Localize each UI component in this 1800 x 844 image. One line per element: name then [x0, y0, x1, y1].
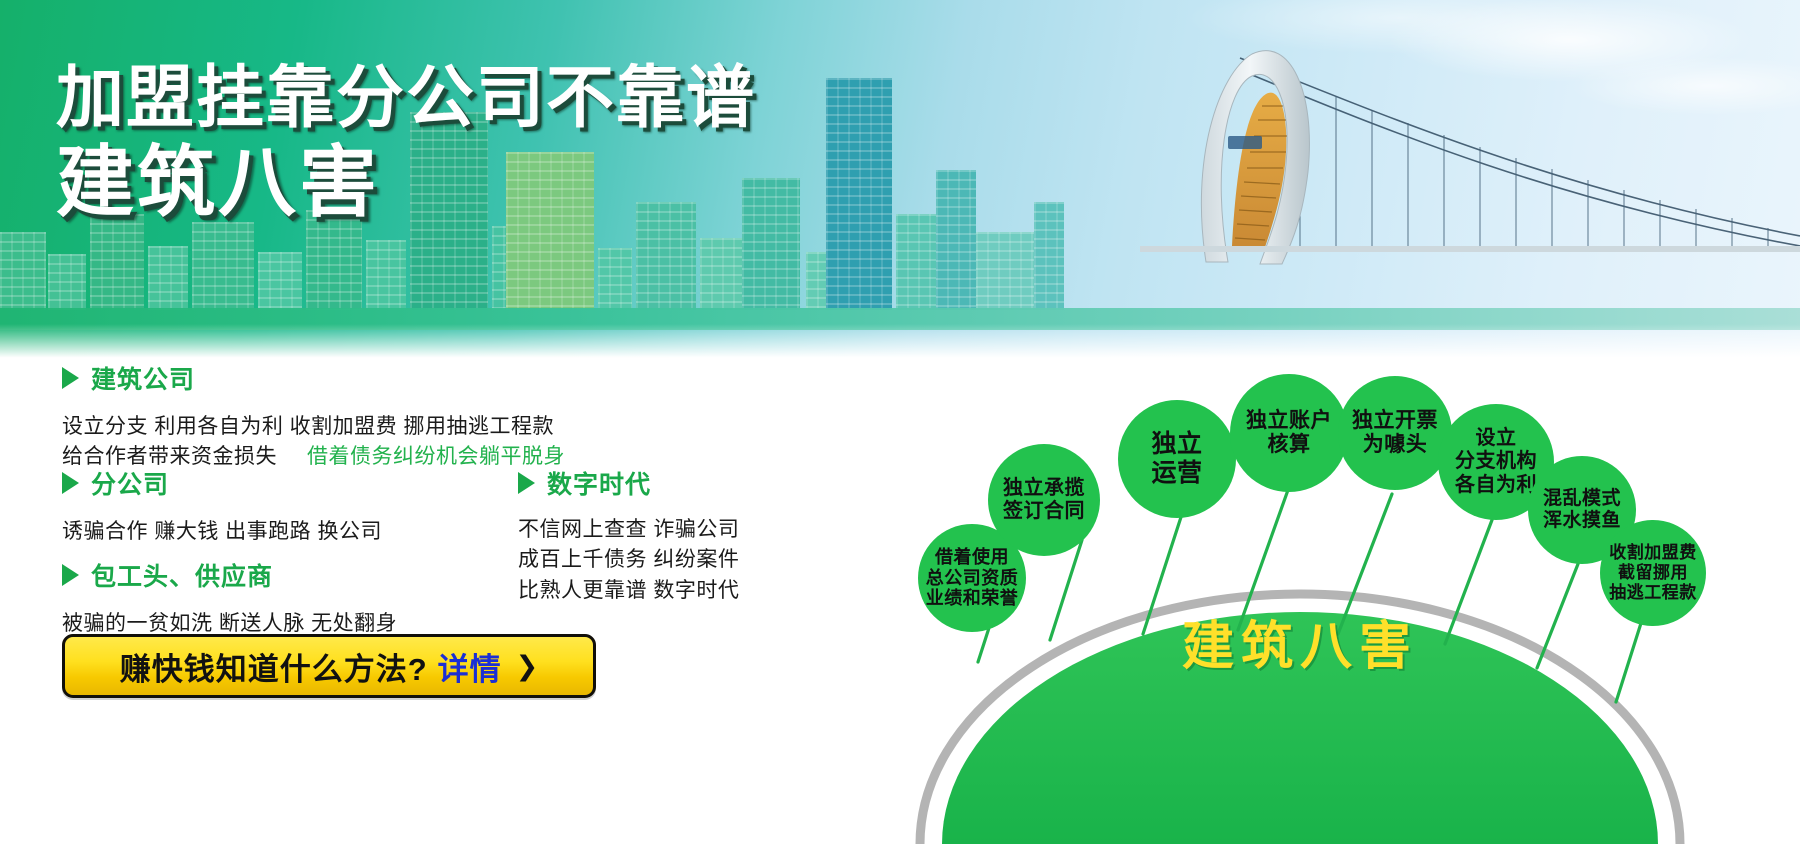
- bubble-item[interactable]: 收割加盟费 截留挪用 抽逃工程款: [1600, 520, 1706, 626]
- bubble-item[interactable]: 独立开票 为噱头: [1338, 376, 1452, 490]
- section-header: 分公司: [62, 465, 382, 501]
- section-contractor-supplier: 包工头、供应商 被骗的一贫如洗 断送人脉 无处翻身: [62, 557, 397, 639]
- bubble-line: 截留挪用: [1609, 563, 1697, 583]
- dome-center-label: 建筑八害: [1080, 604, 1520, 679]
- bubble-line: 浑水摸鱼: [1543, 510, 1621, 532]
- section-title: 数字时代: [547, 465, 651, 501]
- triangle-right-icon: [518, 472, 535, 494]
- section-title: 包工头、供应商: [91, 557, 273, 593]
- content-area: 建筑公司 设立分支 利用各自为利 收割加盟费 挪用抽逃工程款 给合作者带来资金损…: [0, 372, 900, 844]
- bubble-line: 为噱头: [1352, 433, 1438, 457]
- bubble-line: 独立账户: [1246, 409, 1332, 433]
- bubble-line: 独立开票: [1352, 409, 1438, 433]
- bubble-item[interactable]: 独立 运营: [1118, 400, 1236, 518]
- section-line: 设立分支 利用各自为利 收割加盟费 挪用抽逃工程款: [62, 412, 565, 442]
- line-text: 设立分支 利用各自为利 收割加盟费 挪用抽逃工程款: [62, 415, 554, 438]
- bubble-item[interactable]: 独立账户 核算: [1230, 374, 1348, 492]
- section-line: 诱骗合作 赚大钱 出事跑路 换公司: [62, 517, 382, 547]
- section-title: 分公司: [91, 465, 169, 501]
- bridge-illustration: [1140, 40, 1800, 310]
- bubble-line: 独立: [1151, 430, 1202, 459]
- bubble-line: 抽逃工程款: [1609, 583, 1697, 603]
- section-branch-company: 分公司 诱骗合作 赚大钱 出事跑路 换公司: [62, 465, 382, 547]
- bubble-line: 运营: [1151, 459, 1202, 488]
- bubble-line: 各自为利: [1455, 474, 1537, 497]
- cta-detail-link[interactable]: 详情: [438, 644, 502, 689]
- section-header: 包工头、供应商: [62, 557, 397, 593]
- hero-banner: 加盟挂靠分公司不靠谱 建筑八害: [0, 0, 1800, 372]
- bubble-line: 独立承揽: [1003, 477, 1085, 500]
- bubble-line: 业绩和荣誉: [926, 588, 1019, 609]
- headline-line-2: 建筑八害: [56, 139, 756, 226]
- section-digital-era: 数字时代 不信网上查查 诈骗公司 成百上千债务 纠纷案件 比熟人更靠谱 数字时代: [518, 465, 739, 606]
- bubble-item[interactable]: 独立承揽 签订合同: [988, 444, 1100, 556]
- bubble-line: 混乱模式: [1543, 488, 1621, 510]
- triangle-right-icon: [62, 472, 79, 494]
- bubble-line: 设立: [1455, 427, 1537, 450]
- hero-headline: 加盟挂靠分公司不靠谱 建筑八害: [56, 62, 756, 227]
- bubble-line: 签订合同: [1003, 500, 1085, 523]
- cta-label: 赚快钱知道什么方法?: [120, 644, 428, 689]
- section-line: 成百上千债务 纠纷案件: [518, 545, 739, 575]
- cta-button[interactable]: 赚快钱知道什么方法? 详情 ❯: [62, 634, 596, 698]
- bubble-line: 总公司资质: [926, 568, 1019, 589]
- headline-line-1: 加盟挂靠分公司不靠谱: [56, 62, 756, 135]
- section-construction-company: 建筑公司 设立分支 利用各自为利 收割加盟费 挪用抽逃工程款 给合作者带来资金损…: [62, 360, 565, 473]
- section-line: 比熟人更靠谱 数字时代: [518, 576, 739, 606]
- triangle-right-icon: [62, 367, 79, 389]
- triangle-right-icon: [62, 564, 79, 586]
- section-header: 建筑公司: [62, 360, 565, 396]
- chevron-right-icon: ❯: [516, 651, 539, 682]
- section-header: 数字时代: [518, 465, 739, 501]
- bubble-line: 收割加盟费: [1609, 543, 1697, 563]
- bubble-diagram: 借着使用 总公司资质 业绩和荣誉 独立承揽 签订合同 独立 运营 独立账户 核算: [900, 372, 1800, 844]
- bubble-line: 核算: [1246, 433, 1332, 457]
- section-line: 不信网上查查 诈骗公司: [518, 515, 739, 545]
- bubble-line: 分支机构: [1455, 450, 1537, 473]
- bubble-line: 借着使用: [926, 547, 1019, 568]
- section-title: 建筑公司: [91, 360, 195, 396]
